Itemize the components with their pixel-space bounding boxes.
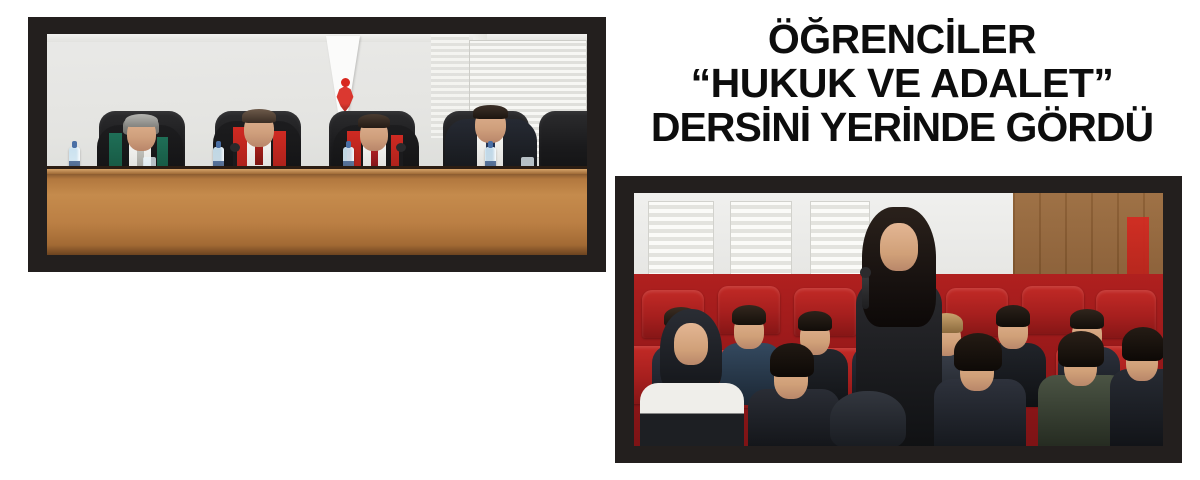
photo-students-audience [634,193,1163,446]
headline-line-2: “HUKUK VE ADALET” [612,62,1192,104]
panel-desk [47,166,587,255]
headline-line-1: ÖĞRENCİLER [612,18,1192,60]
courtroom-scene [47,34,587,255]
photo-students-audience-frame [615,176,1182,463]
photo-judges-panel-frame [28,17,606,272]
auditorium-scene [634,193,1163,446]
desk-edge [47,169,587,174]
photo-judges-panel [47,34,587,255]
pennant-star-icon [341,78,350,87]
headline-line-3: DERSİNİ YERİNDE GÖRDÜ [612,106,1192,148]
headline-block: ÖĞRENCİLER “HUKUK VE ADALET” DERSİNİ YER… [612,18,1192,149]
news-banner-page: ÖĞRENCİLER “HUKUK VE ADALET” DERSİNİ YER… [0,0,1200,480]
microphone-icon [862,275,869,309]
